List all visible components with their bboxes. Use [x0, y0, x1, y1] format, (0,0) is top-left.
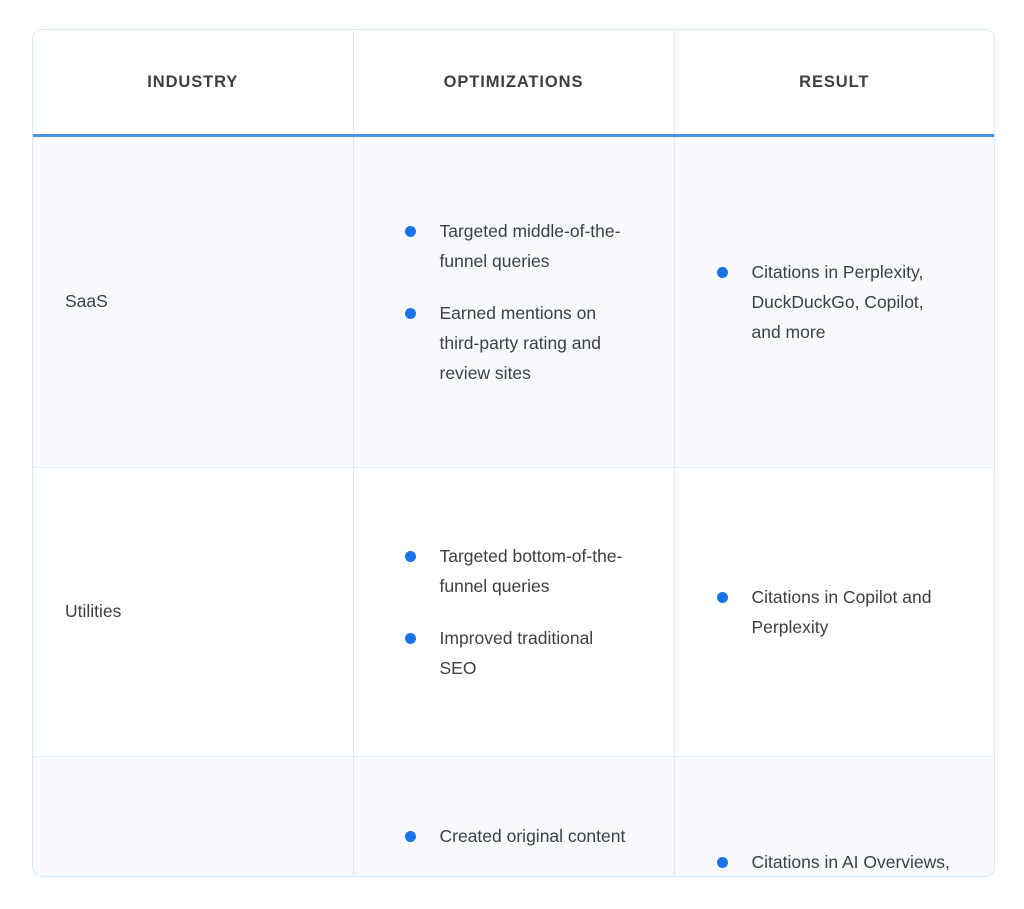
cell-result: Citations in Copilot and Perplexity: [674, 468, 994, 757]
list-item-text: Targeted bottom-of-the-funnel queries: [440, 546, 623, 596]
column-header-optimizations: OPTIMIZATIONS: [353, 30, 674, 136]
column-header-result: RESULT: [674, 30, 994, 136]
table-row: Professional services Created original c…: [33, 757, 994, 878]
bullet-dot-icon: [405, 226, 416, 237]
cell-industry: Professional services: [33, 757, 353, 878]
list-item-text: Citations in Perplexity, DuckDuckGo, Cop…: [752, 262, 924, 342]
list-item: Citations in AI Overviews, Perplexity, C…: [717, 847, 955, 877]
list-item: Created original content: [405, 821, 630, 851]
list-item-text: Citations in AI Overviews, Perplexity, C…: [752, 852, 950, 877]
bullet-dot-icon: [717, 857, 728, 868]
table-header: INDUSTRY OPTIMIZATIONS RESULT: [33, 30, 994, 136]
list-item: Citations in Copilot and Perplexity: [717, 582, 955, 642]
industry-label: SaaS: [65, 291, 108, 311]
optimizations-list: Created original content Targeted querie…: [405, 821, 646, 877]
result-list: Citations in Copilot and Perplexity: [717, 582, 971, 642]
list-item: Targeted queries throughout the buying f…: [405, 873, 630, 877]
cell-optimizations: Targeted bottom-of-the-funnel queries Im…: [353, 468, 674, 757]
list-item-text: Earned mentions on third-party rating an…: [440, 303, 601, 383]
result-list: Citations in AI Overviews, Perplexity, C…: [717, 847, 971, 877]
cell-optimizations: Targeted middle-of-the-funnel queries Ea…: [353, 136, 674, 468]
list-item: Targeted middle-of-the-funnel queries: [405, 216, 630, 276]
list-item: Improved traditional SEO: [405, 623, 630, 683]
cell-result: Citations in AI Overviews, Perplexity, C…: [674, 757, 994, 878]
list-item-text: Targeted middle-of-the-funnel queries: [440, 221, 621, 271]
optimizations-list: Targeted bottom-of-the-funnel queries Im…: [405, 541, 646, 683]
cell-optimizations: Created original content Targeted querie…: [353, 757, 674, 878]
comparison-table-card: INDUSTRY OPTIMIZATIONS RESULT SaaS Targe…: [32, 29, 995, 877]
cell-industry: Utilities: [33, 468, 353, 757]
bullet-dot-icon: [717, 267, 728, 278]
result-list: Citations in Perplexity, DuckDuckGo, Cop…: [717, 257, 971, 347]
page-root: INDUSTRY OPTIMIZATIONS RESULT SaaS Targe…: [0, 0, 1024, 909]
table-row: Utilities Targeted bottom-of-the-funnel …: [33, 468, 994, 757]
list-item: Targeted bottom-of-the-funnel queries: [405, 541, 630, 601]
optimizations-list: Targeted middle-of-the-funnel queries Ea…: [405, 216, 646, 388]
column-header-industry: INDUSTRY: [33, 30, 353, 136]
cell-industry: SaaS: [33, 136, 353, 468]
list-item-text: Improved traditional SEO: [440, 628, 594, 678]
bullet-dot-icon: [717, 592, 728, 603]
list-item: Earned mentions on third-party rating an…: [405, 298, 630, 388]
bullet-dot-icon: [405, 831, 416, 842]
header-row: INDUSTRY OPTIMIZATIONS RESULT: [33, 30, 994, 136]
list-item-text: Citations in Copilot and Perplexity: [752, 587, 932, 637]
bullet-dot-icon: [405, 633, 416, 644]
comparison-table: INDUSTRY OPTIMIZATIONS RESULT SaaS Targe…: [33, 30, 994, 877]
bullet-dot-icon: [405, 308, 416, 319]
table-row: SaaS Targeted middle-of-the-funnel queri…: [33, 136, 994, 468]
list-item: Citations in Perplexity, DuckDuckGo, Cop…: [717, 257, 955, 347]
bullet-dot-icon: [405, 551, 416, 562]
cell-result: Citations in Perplexity, DuckDuckGo, Cop…: [674, 136, 994, 468]
industry-label: Utilities: [65, 601, 121, 621]
table-body: SaaS Targeted middle-of-the-funnel queri…: [33, 136, 994, 878]
list-item-text: Created original content: [440, 826, 626, 846]
